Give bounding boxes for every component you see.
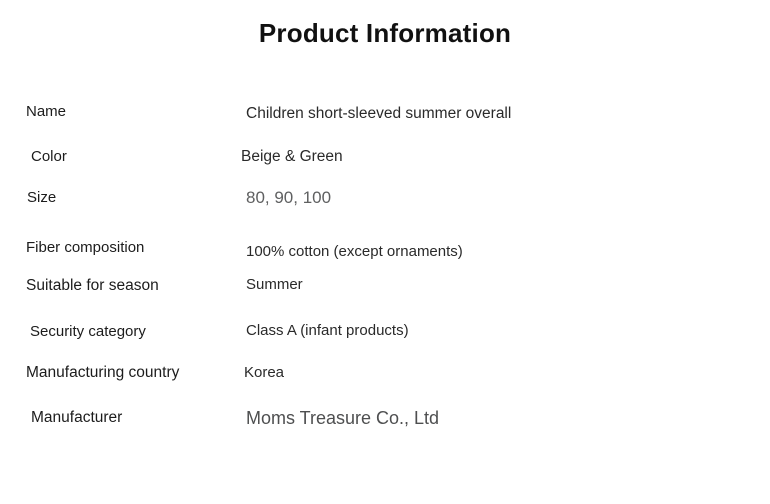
spec-label-manufacturing-country: Manufacturing country xyxy=(26,364,179,382)
spec-value-manufacturer: Moms Treasure Co., Ltd xyxy=(246,408,439,429)
spec-label-fiber-composition: Fiber composition xyxy=(26,239,144,256)
spec-value-name: Children short-sleeved summer overall xyxy=(246,105,511,123)
spec-label-size: Size xyxy=(27,189,56,206)
spec-value-color: Beige & Green xyxy=(241,148,343,166)
spec-label-suitable-season: Suitable for season xyxy=(26,277,159,295)
product-information-page: Product Information Name Children short-… xyxy=(0,0,770,504)
spec-label-manufacturer: Manufacturer xyxy=(31,409,122,427)
spec-value-fiber-composition: 100% cotton (except ornaments) xyxy=(246,243,463,260)
spec-value-manufacturing-country: Korea xyxy=(244,364,284,381)
spec-label-security-category: Security category xyxy=(30,323,146,340)
spec-value-security-category: Class A (infant products) xyxy=(246,322,409,339)
spec-value-suitable-season: Summer xyxy=(246,276,303,293)
spec-label-color: Color xyxy=(31,148,67,165)
spec-label-name: Name xyxy=(26,103,66,120)
page-title: Product Information xyxy=(0,18,770,49)
spec-value-size: 80, 90, 100 xyxy=(246,188,331,208)
